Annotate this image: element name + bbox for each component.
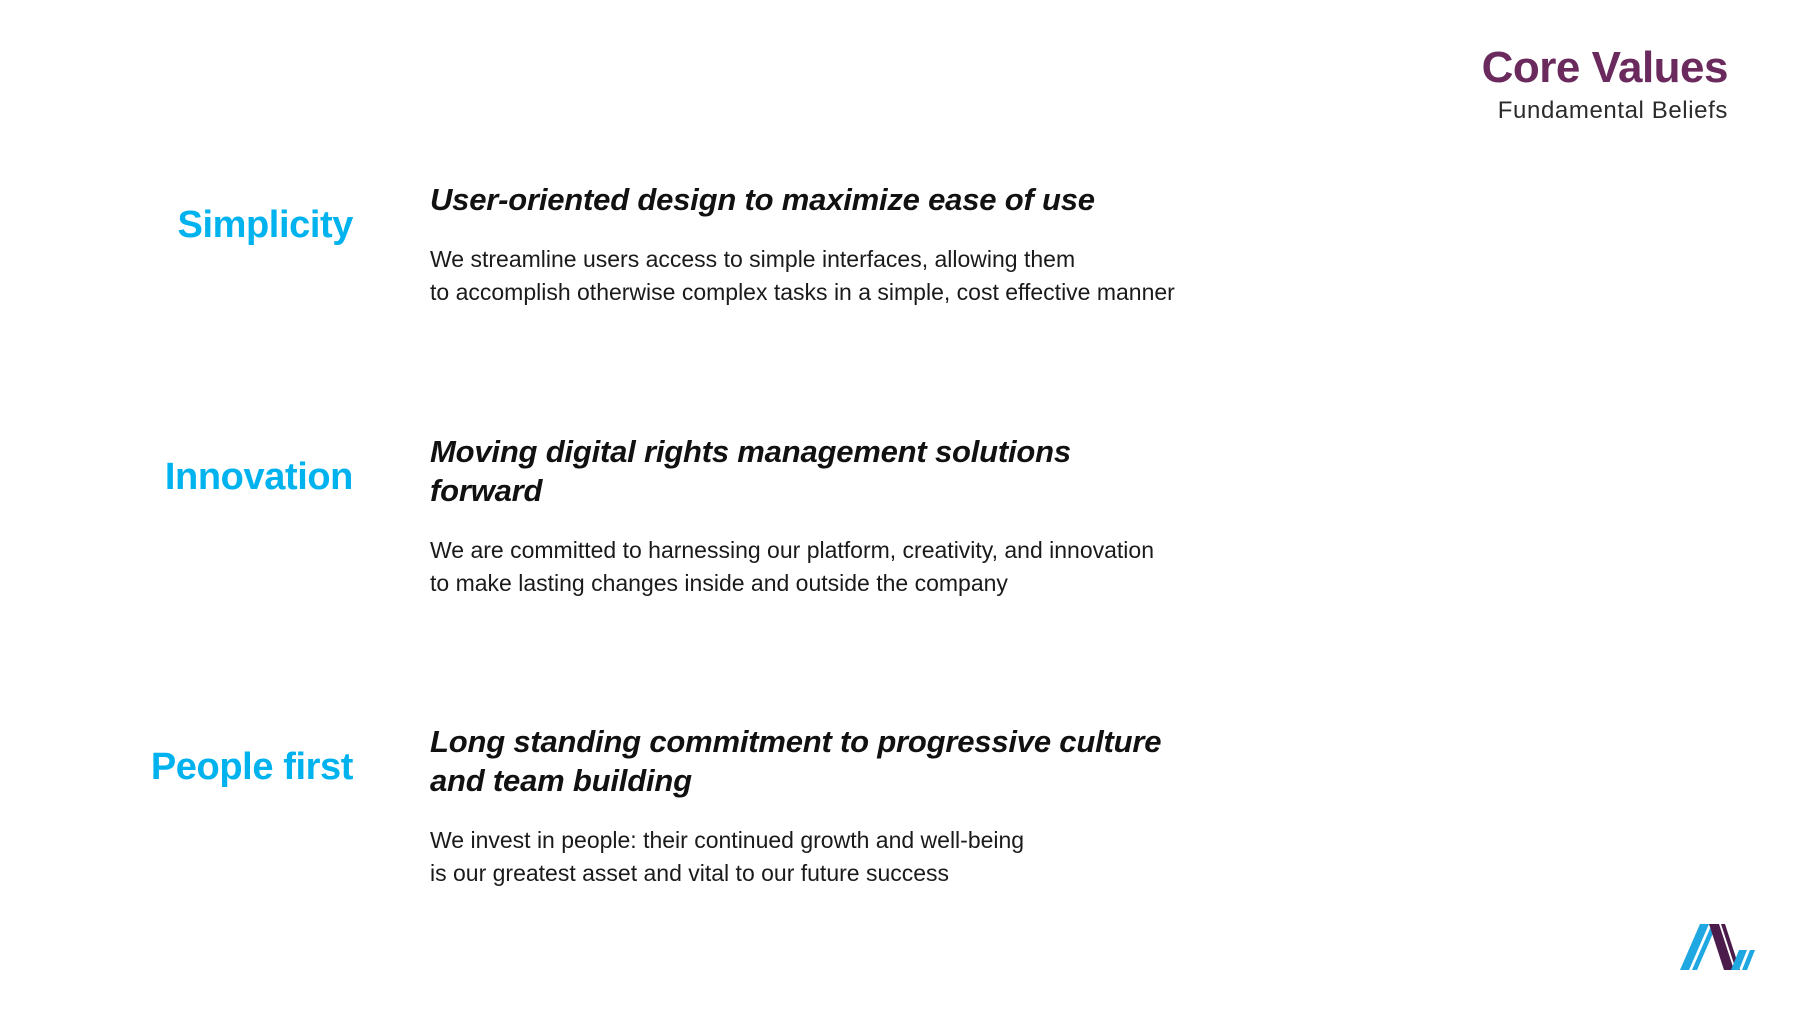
value-label-column: People first	[0, 722, 353, 786]
value-body-column: User-oriented design to maximize ease of…	[353, 180, 1800, 308]
value-label-simplicity: Simplicity	[178, 206, 354, 244]
page-subtitle: Fundamental Beliefs	[1482, 95, 1728, 127]
value-description-simplicity: We streamline users access to simple int…	[430, 243, 1250, 308]
value-label-innovation: Innovation	[165, 458, 353, 496]
value-headline-simplicity: User-oriented design to maximize ease of…	[430, 180, 1190, 219]
core-values-list: Simplicity User-oriented design to maxim…	[0, 180, 1800, 889]
value-headline-innovation: Moving digital rights management solutio…	[430, 432, 1190, 510]
value-description-innovation: We are committed to harnessing our platf…	[430, 534, 1250, 599]
value-label-column: Innovation	[0, 432, 353, 496]
value-label-column: Simplicity	[0, 180, 353, 244]
value-body-column: Moving digital rights management solutio…	[353, 432, 1800, 599]
logo-a-mark-icon	[1676, 916, 1772, 992]
value-item-innovation: Innovation Moving digital rights managem…	[0, 432, 1800, 599]
page-title: Core Values	[1482, 46, 1728, 91]
value-item-simplicity: Simplicity User-oriented design to maxim…	[0, 180, 1800, 308]
slide-header: Core Values Fundamental Beliefs	[1482, 46, 1728, 127]
value-item-people-first: People first Long standing commitment to…	[0, 722, 1800, 889]
value-label-people-first: People first	[151, 748, 353, 786]
company-logo	[1676, 916, 1772, 992]
value-headline-people-first: Long standing commitment to progressive …	[430, 722, 1190, 800]
value-body-column: Long standing commitment to progressive …	[353, 722, 1800, 889]
value-description-people-first: We invest in people: their continued gro…	[430, 824, 1250, 889]
